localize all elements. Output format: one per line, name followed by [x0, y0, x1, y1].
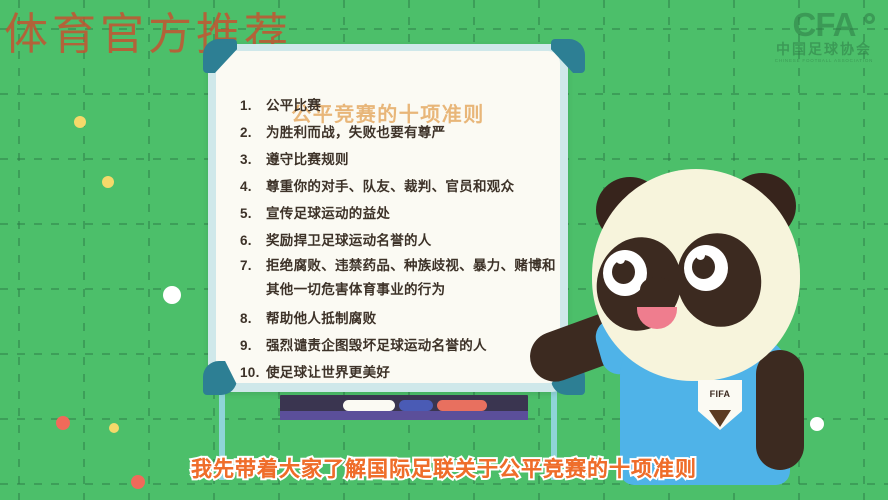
grid-line-vertical	[18, 0, 20, 500]
rule-text: 使足球让世界更美好	[266, 359, 390, 386]
background-dot	[109, 423, 119, 433]
cfa-chinese-name: 中国足球协会	[770, 42, 878, 57]
background-dot	[102, 176, 114, 188]
rule-text: 遵守比赛规则	[266, 146, 349, 173]
cfa-logo: CFA 中国足球协会 CHINESE FOOTBALL ASSOCIATION	[770, 8, 878, 70]
rule-item: 1.公平比赛	[240, 92, 560, 119]
white-marker	[343, 400, 395, 411]
rule-item: 7.拒绝腐败、违禁药品、种族歧视、暴力、赌博和其他一切危害体育事业的行为	[240, 254, 560, 302]
grid-line-vertical	[148, 0, 150, 500]
rule-item: 4.尊重你的对手、队友、裁判、官员和观众	[240, 173, 560, 200]
rule-text: 为胜利而战，失败也要有尊严	[266, 119, 445, 146]
rule-text: 帮助他人抵制腐败	[266, 305, 376, 332]
rule-item: 6.奖励捍卫足球运动名誉的人	[240, 227, 560, 254]
rule-number: 2.	[240, 119, 266, 146]
background-dot	[163, 286, 181, 304]
rule-number: 6.	[240, 227, 266, 254]
panda-mascot: FIFA	[560, 155, 888, 500]
fair-play-rule-list: 1.公平比赛2.为胜利而战，失败也要有尊严3.遵守比赛规则4.尊重你的对手、队友…	[240, 92, 560, 386]
rule-number: 5.	[240, 200, 266, 227]
rule-item: 2.为胜利而战，失败也要有尊严	[240, 119, 560, 146]
cfa-english-name: CHINESE FOOTBALL ASSOCIATION	[770, 57, 878, 64]
rule-number: 7.	[240, 254, 266, 278]
rule-item: 3.遵守比赛规则	[240, 146, 560, 173]
rule-item: 9.强烈谴责企图毁坏足球运动名誉的人	[240, 332, 560, 359]
blue-marker	[399, 400, 433, 411]
marker-tray-edge	[280, 411, 528, 420]
video-frame: 体育官方推荐 CFA 中国足球协会 CHINESE FOOTBALL ASSOC…	[0, 0, 888, 500]
rule-item: 10.使足球让世界更美好	[240, 359, 560, 386]
red-marker	[437, 400, 487, 411]
subtitle-text: 我先带着大家了解国际足联关于公平竞赛的十项准则	[0, 453, 888, 483]
rule-text: 尊重你的对手、队友、裁判、官员和观众	[266, 173, 514, 200]
rule-item: 8.帮助他人抵制腐败	[240, 305, 560, 332]
rule-number: 9.	[240, 332, 266, 359]
football-icon	[864, 13, 875, 24]
rule-number: 4.	[240, 173, 266, 200]
rule-number: 10.	[240, 359, 266, 386]
badge-label: FIFA	[698, 389, 742, 399]
rule-text: 宣传足球运动的益处	[266, 200, 390, 227]
background-dot	[56, 416, 70, 430]
grid-line-vertical	[83, 0, 85, 500]
panda-eye-glint-left	[616, 255, 625, 264]
rule-text: 公平比赛	[266, 92, 321, 119]
panda-pupil-left	[612, 260, 635, 284]
rule-number: 1.	[240, 92, 266, 119]
fifa-badge: FIFA	[698, 380, 742, 430]
panda-right-arm	[756, 350, 804, 470]
background-dot	[74, 116, 86, 128]
rule-item: 5.宣传足球运动的益处	[240, 200, 560, 227]
rule-number: 3.	[240, 146, 266, 173]
rule-text: 强烈谴责企图毁坏足球运动名誉的人	[266, 332, 487, 359]
rule-number: 8.	[240, 305, 266, 332]
rule-text: 奖励捍卫足球运动名誉的人	[266, 227, 432, 254]
rule-text: 拒绝腐败、违禁药品、种族歧视、暴力、赌博和其他一切危害体育事业的行为	[266, 254, 560, 302]
cfa-acronym: CFA	[770, 8, 878, 42]
panda-eye-glint-right	[696, 251, 705, 260]
